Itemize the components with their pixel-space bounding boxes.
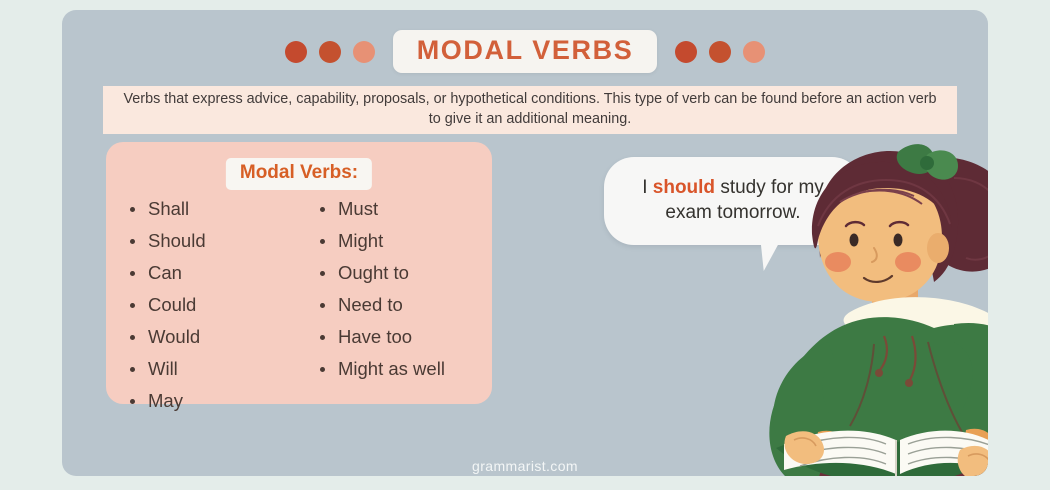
page-title-badge: MODAL VERBS <box>393 30 658 73</box>
dot-icon <box>709 41 731 63</box>
dot-icon <box>675 41 697 63</box>
verbs-list-right: Must Might Ought to Need to Have too Mig… <box>314 200 492 379</box>
list-item: Would <box>124 328 308 347</box>
modal-verbs-heading: Modal Verbs: <box>240 162 358 183</box>
decorative-dots-left <box>285 41 375 63</box>
example-highlight-word: should <box>653 177 715 198</box>
list-item: Ought to <box>314 264 492 283</box>
list-item: Should <box>124 232 308 251</box>
footer: grammarist.com <box>62 458 988 476</box>
modal-verbs-card: Modal Verbs: Shall Should Can Could Woul… <box>106 142 492 404</box>
list-item: Can <box>124 264 308 283</box>
list-item: Have too <box>314 328 492 347</box>
description-text: Verbs that express advice, capability, p… <box>117 90 943 130</box>
example-text-before: I <box>642 177 653 198</box>
modal-verbs-heading-badge: Modal Verbs: <box>226 158 372 190</box>
description-banner: Verbs that express advice, capability, p… <box>103 86 957 134</box>
verbs-column-left: Shall Should Can Could Would Will May <box>124 200 308 424</box>
verbs-list-left: Shall Should Can Could Would Will May <box>124 200 308 411</box>
list-item: Might <box>314 232 492 251</box>
girl-reading-illustration <box>722 130 988 476</box>
dot-icon <box>285 41 307 63</box>
dot-icon <box>353 41 375 63</box>
list-item: Will <box>124 360 308 379</box>
title-row: MODAL VERBS <box>62 30 988 73</box>
list-item: Need to <box>314 296 492 315</box>
decorative-dots-right <box>675 41 765 63</box>
verbs-columns: Shall Should Can Could Would Will May Mu… <box>106 200 492 424</box>
dot-icon <box>319 41 341 63</box>
dot-icon <box>743 41 765 63</box>
list-item: Could <box>124 296 308 315</box>
list-item: May <box>124 392 308 411</box>
list-item: Might as well <box>314 360 492 379</box>
list-item: Must <box>314 200 492 219</box>
page-title: MODAL VERBS <box>417 35 634 65</box>
verbs-column-right: Must Might Ought to Need to Have too Mig… <box>308 200 492 424</box>
main-card: MODAL VERBS Verbs that express advice, c… <box>62 10 988 476</box>
site-credit: grammarist.com <box>472 458 578 474</box>
list-item: Shall <box>124 200 308 219</box>
infographic-root: MODAL VERBS Verbs that express advice, c… <box>0 0 1050 490</box>
